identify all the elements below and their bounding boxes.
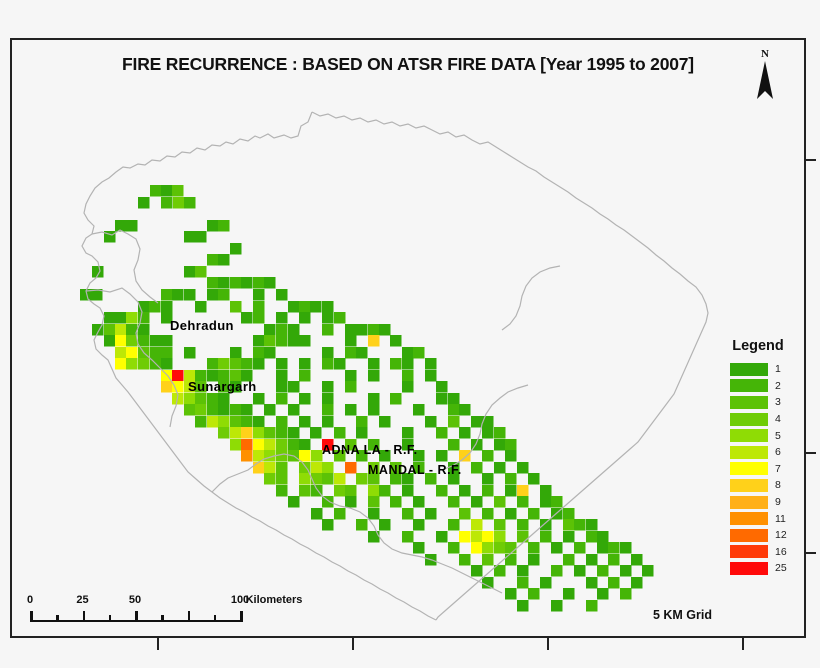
scale-tick-mark xyxy=(161,615,164,622)
legend-label: 8 xyxy=(775,479,781,491)
graticule-tick-bottom xyxy=(742,636,744,650)
legend-swatch xyxy=(730,562,768,575)
graticule-tick-bottom xyxy=(157,636,159,650)
scale-tick-label: 50 xyxy=(129,594,141,606)
scale-tick-label: 25 xyxy=(76,594,88,606)
scale-tick-mark xyxy=(83,611,86,622)
legend-swatch xyxy=(730,529,768,542)
legend-swatch xyxy=(730,462,768,475)
graticule-tick-right xyxy=(804,159,816,161)
legend-label: 4 xyxy=(775,413,781,425)
legend-entry: 4 xyxy=(720,411,796,428)
legend-entry: 3 xyxy=(720,394,796,411)
scale-tick-mark xyxy=(240,611,243,622)
legend-entry: 16 xyxy=(720,544,796,561)
legend-swatch xyxy=(730,396,768,409)
place-label: Sunargarh xyxy=(188,379,257,394)
district-boundaries xyxy=(12,40,804,636)
legend-entry: 2 xyxy=(720,378,796,395)
scale-tick-label: 0 xyxy=(27,594,33,606)
legend-swatch xyxy=(730,446,768,459)
graticule-tick-bottom xyxy=(352,636,354,650)
legend-label: 5 xyxy=(775,430,781,442)
map-screenshot: FIRE RECURRENCE : BASED ON ATSR FIRE DAT… xyxy=(0,0,820,668)
legend-label: 7 xyxy=(775,463,781,475)
legend-swatch xyxy=(730,413,768,426)
scale-bar-labels: 02550100Kilometers xyxy=(30,594,240,608)
legend-label: 6 xyxy=(775,446,781,458)
scale-unit-label: Kilometers xyxy=(246,594,303,606)
place-label: ADNA LA - R.F. xyxy=(322,443,418,457)
scale-tick-mark xyxy=(188,611,191,622)
legend-swatch xyxy=(730,379,768,392)
legend-label: 11 xyxy=(775,513,786,525)
place-label: Dehradun xyxy=(170,318,234,333)
legend-swatch xyxy=(730,545,768,558)
legend-swatch xyxy=(730,496,768,509)
legend-label: 12 xyxy=(775,529,787,541)
scale-bar-graphic xyxy=(30,610,240,622)
legend-entries: 12345678911121625 xyxy=(720,361,796,577)
map-frame: FIRE RECURRENCE : BASED ON ATSR FIRE DAT… xyxy=(10,38,806,638)
legend-entry: 12 xyxy=(720,527,796,544)
legend-entry: 9 xyxy=(720,494,796,511)
legend-entry: 5 xyxy=(720,427,796,444)
legend-label: 25 xyxy=(775,562,787,574)
legend-entry: 1 xyxy=(720,361,796,378)
legend-label: 1 xyxy=(775,363,781,375)
map-canvas xyxy=(12,40,804,636)
graticule-tick-bottom xyxy=(547,636,549,650)
legend-label: 3 xyxy=(775,396,781,408)
scale-bar: 02550100Kilometers xyxy=(30,594,240,622)
legend-label: 16 xyxy=(775,546,787,558)
legend-entry: 7 xyxy=(720,461,796,478)
legend-swatch xyxy=(730,429,768,442)
legend-label: 9 xyxy=(775,496,781,508)
legend-label: 2 xyxy=(775,380,781,392)
legend: Legend 12345678911121625 xyxy=(720,338,796,577)
graticule-tick-right xyxy=(804,452,816,454)
legend-swatch xyxy=(730,479,768,492)
place-label: MANDAL - R.F. xyxy=(368,463,462,477)
legend-title: Legend xyxy=(720,338,796,354)
legend-swatch xyxy=(730,512,768,525)
scale-tick-mark xyxy=(30,611,33,622)
grid-size-note: 5 KM Grid xyxy=(653,608,712,622)
legend-swatch xyxy=(730,363,768,376)
scale-tick-mark xyxy=(56,615,59,622)
scale-tick-mark xyxy=(214,615,217,622)
legend-entry: 8 xyxy=(720,477,796,494)
legend-entry: 25 xyxy=(720,560,796,577)
scale-tick-mark xyxy=(109,615,112,622)
graticule-tick-right xyxy=(804,552,816,554)
legend-entry: 6 xyxy=(720,444,796,461)
legend-entry: 11 xyxy=(720,510,796,527)
scale-tick-mark xyxy=(135,611,138,622)
